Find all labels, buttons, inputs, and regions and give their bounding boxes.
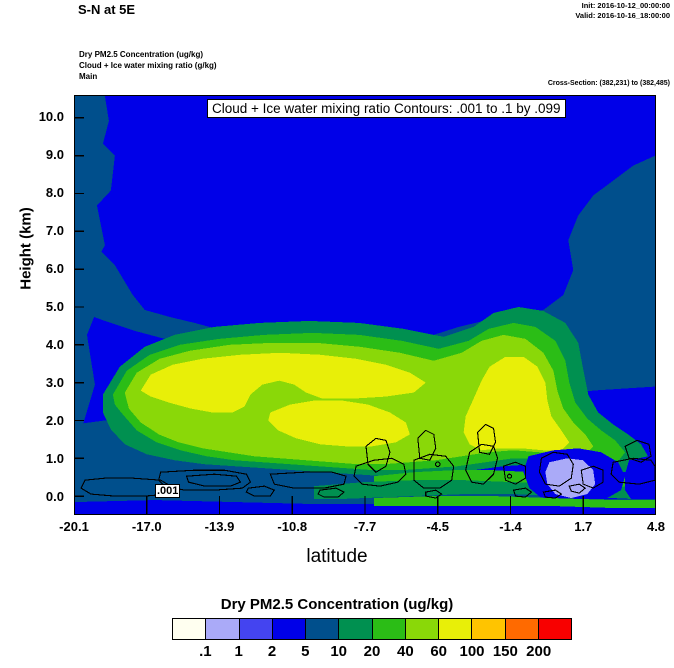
- colorbar-swatch: [240, 619, 273, 639]
- colorbar-swatch: [339, 619, 372, 639]
- colorbar-tick-label: 10: [330, 643, 347, 660]
- variable-description-block: Dry PM2.5 Concentration (ug/kg) Cloud + …: [79, 49, 217, 82]
- colorbar: [172, 618, 572, 640]
- init-time: Init: 2016-10-12_00:00:00: [575, 1, 670, 11]
- x-axis-tick: -7.7: [354, 519, 376, 534]
- x-axis-tick: 1.7: [574, 519, 592, 534]
- colorbar-swatch: [373, 619, 406, 639]
- colorbar-tick-label: 1: [234, 643, 242, 660]
- colorbar-swatch: [439, 619, 472, 639]
- y-axis-tick: 2.0: [0, 413, 64, 428]
- y-axis-tick: 1.0: [0, 451, 64, 466]
- x-axis-tick: -1.4: [499, 519, 521, 534]
- x-axis-tick: -10.8: [277, 519, 307, 534]
- x-axis-tick: -17.0: [132, 519, 162, 534]
- colorbar-swatch: [206, 619, 239, 639]
- colorbar-tick-label: 150: [493, 643, 518, 660]
- x-axis-tick: -20.1: [59, 519, 89, 534]
- inline-contour-label: .001: [155, 484, 180, 498]
- colorbar-labels: .112510204060100150200: [172, 643, 572, 663]
- colorbar-swatch: [472, 619, 505, 639]
- y-axis-tick: 9.0: [0, 147, 64, 162]
- x-axis-tick: -13.9: [205, 519, 235, 534]
- colorbar-swatch: [506, 619, 539, 639]
- colorbar-tick-label: 100: [459, 643, 484, 660]
- x-axis-title: latitude: [0, 546, 674, 568]
- y-axis-tick: 0.0: [0, 489, 64, 504]
- valid-time: Valid: 2016-10-16_18:00:00: [575, 11, 670, 21]
- cross-section-coordinates: Cross-Section: (382,231) to (382,485): [548, 80, 670, 87]
- colorbar-swatch: [539, 619, 571, 639]
- colorbar-swatch: [406, 619, 439, 639]
- x-axis-tick: -4.5: [427, 519, 449, 534]
- colorbar-swatch: [173, 619, 206, 639]
- colorbar-swatch: [273, 619, 306, 639]
- x-axis: -20.1-17.0-13.9-10.8-7.7-4.5-1.41.74.8: [74, 519, 656, 539]
- colorbar-title: Dry PM2.5 Concentration (ug/kg): [0, 596, 674, 613]
- colorbar-tick-label: 2: [268, 643, 276, 660]
- contour-annotation-box: Cloud + Ice water mixing ratio Contours:…: [207, 99, 566, 118]
- time-stamp-block: Init: 2016-10-12_00:00:00 Valid: 2016-10…: [575, 1, 670, 21]
- colorbar-tick-label: 5: [301, 643, 309, 660]
- colorbar-tick-label: 20: [364, 643, 381, 660]
- x-axis-tick: 4.8: [647, 519, 665, 534]
- colorbar-tick-label: 40: [397, 643, 414, 660]
- y-axis-title: Height (km): [18, 169, 35, 329]
- variable-line-2: Cloud + Ice water mixing ratio (g/kg): [79, 60, 217, 71]
- page-title: S-N at 5E: [78, 2, 135, 17]
- cross-section-plot: [74, 95, 656, 515]
- colorbar-tick-label: 60: [430, 643, 447, 660]
- variable-line-3: Main: [79, 71, 217, 82]
- colorbar-tick-label: .1: [199, 643, 212, 660]
- y-axis-tick: 4.0: [0, 337, 64, 352]
- y-axis-tick: 3.0: [0, 375, 64, 390]
- y-axis-tick: 10.0: [0, 109, 64, 124]
- colorbar-tick-label: 200: [526, 643, 551, 660]
- variable-line-1: Dry PM2.5 Concentration (ug/kg): [79, 49, 217, 60]
- colorbar-swatch: [306, 619, 339, 639]
